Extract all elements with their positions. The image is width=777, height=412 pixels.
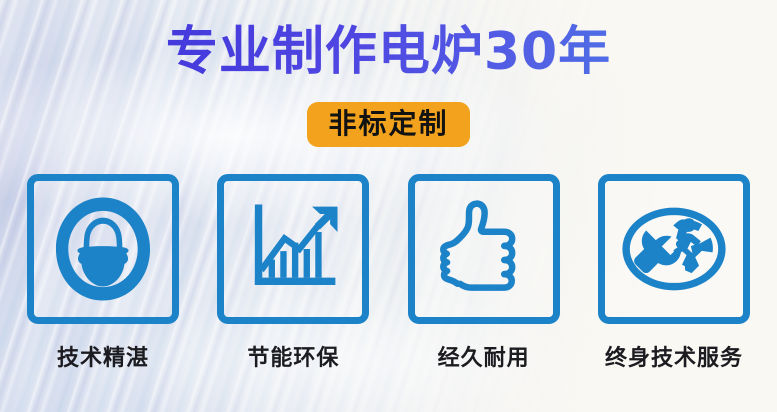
feature-label-2: 节能环保 [247,340,339,372]
icon-box-4 [598,174,750,324]
custom-order-badge: 非标定制 [307,102,469,147]
promo-banner: 专业制作电炉30年 非标定制 技术精湛 [0,0,777,412]
feature-label-3: 经久耐用 [438,340,530,372]
thumbs-up-icon [430,195,538,303]
feature-item-4[interactable]: 终身技术服务 [595,174,753,372]
feature-list: 技术精湛 [24,174,753,372]
feature-item-3[interactable]: 经久耐用 [405,174,563,372]
feature-label-4: 终身技术服务 [605,340,743,372]
headline: 专业制作电炉30年 [0,22,777,83]
icon-box-2 [217,174,369,324]
bar-chart-growth-arrow-icon [240,196,346,302]
badge-row: 非标定制 [0,102,777,147]
globe-wrench-technician-icon [617,192,731,306]
feature-item-1[interactable]: 技术精湛 [24,174,182,372]
feature-label-1: 技术精湛 [57,340,149,372]
feature-item-2[interactable]: 节能环保 [214,174,372,372]
icon-box-3 [408,174,560,324]
icon-box-1 [27,174,179,324]
hard-hat-worker-icon [47,193,159,305]
